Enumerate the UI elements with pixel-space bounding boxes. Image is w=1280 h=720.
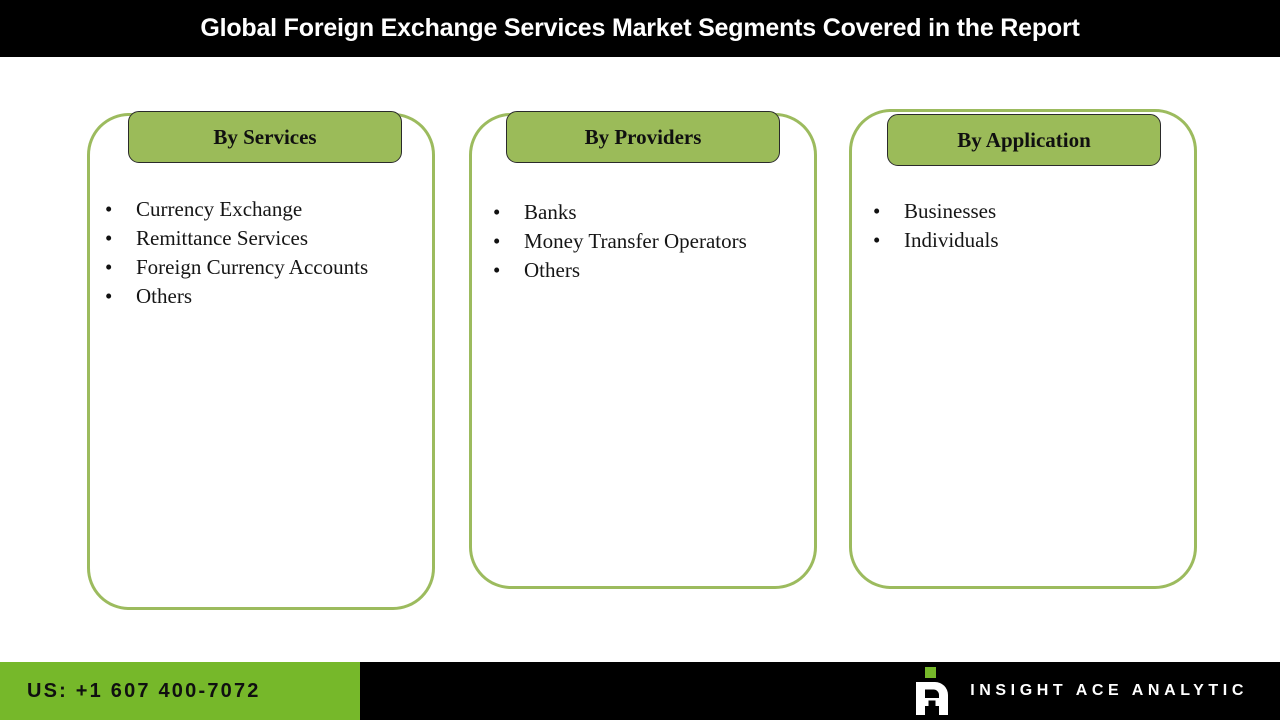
list-item: • Remittance Services xyxy=(103,224,413,253)
segments-canvas: By Services • Currency Exchange • Remitt… xyxy=(0,57,1280,662)
bullet-icon: • xyxy=(873,197,880,226)
list-item-label: Remittance Services xyxy=(136,226,308,250)
list-item-label: Currency Exchange xyxy=(136,197,302,221)
card-outline xyxy=(87,113,435,610)
bullet-icon: • xyxy=(493,227,500,256)
bullet-icon: • xyxy=(105,282,112,311)
list-item-label: Money Transfer Operators xyxy=(524,229,747,253)
list-item: • Businesses xyxy=(871,197,1181,226)
list-item: • Currency Exchange xyxy=(103,195,413,224)
insightace-a-mark-icon xyxy=(912,667,956,715)
list-item: • Others xyxy=(491,256,801,285)
bullet-icon: • xyxy=(105,253,112,282)
footer-phone-number[interactable]: US: +1 607 400-7072 xyxy=(27,662,261,720)
list-item-label: Banks xyxy=(524,200,577,224)
list-item-label: Others xyxy=(524,258,580,282)
list-item: • Money Transfer Operators xyxy=(491,227,801,256)
card-title-services: By Services xyxy=(128,111,402,163)
bullet-icon: • xyxy=(105,224,112,253)
segment-card-services: By Services • Currency Exchange • Remitt… xyxy=(87,113,435,610)
list-item-label: Businesses xyxy=(904,199,996,223)
card-outline xyxy=(849,109,1197,589)
segment-card-application: By Application • Businesses • Individual… xyxy=(849,109,1197,589)
card-title-application: By Application xyxy=(887,114,1161,166)
list-item: • Banks xyxy=(491,198,801,227)
list-item-label: Foreign Currency Accounts xyxy=(136,255,368,279)
footer-phone-block: US: +1 607 400-7072 xyxy=(0,662,360,720)
bullet-icon: • xyxy=(873,226,880,255)
card-outline xyxy=(469,113,817,589)
brand-name-label: INSIGHT ACE ANALYTIC xyxy=(970,682,1248,700)
footer-brand: INSIGHT ACE ANALYTIC xyxy=(912,662,1248,720)
card-title-providers: By Providers xyxy=(506,111,780,163)
card-list-application: • Businesses • Individuals xyxy=(871,197,1181,255)
bullet-icon: • xyxy=(105,195,112,224)
page-title: Global Foreign Exchange Services Market … xyxy=(0,0,1280,57)
header-bar: Global Foreign Exchange Services Market … xyxy=(0,0,1280,57)
list-item: • Foreign Currency Accounts xyxy=(103,253,413,282)
list-item: • Others xyxy=(103,282,413,311)
list-item-label: Individuals xyxy=(904,228,999,252)
bullet-icon: • xyxy=(493,256,500,285)
card-list-services: • Currency Exchange • Remittance Service… xyxy=(103,195,413,311)
list-item-label: Others xyxy=(136,284,192,308)
bullet-icon: • xyxy=(493,198,500,227)
footer-bar: US: +1 607 400-7072 INSIGHT ACE ANALYTIC xyxy=(0,662,1280,720)
card-list-providers: • Banks • Money Transfer Operators • Oth… xyxy=(491,198,801,285)
segment-card-providers: By Providers • Banks • Money Transfer Op… xyxy=(469,113,817,589)
list-item: • Individuals xyxy=(871,226,1181,255)
